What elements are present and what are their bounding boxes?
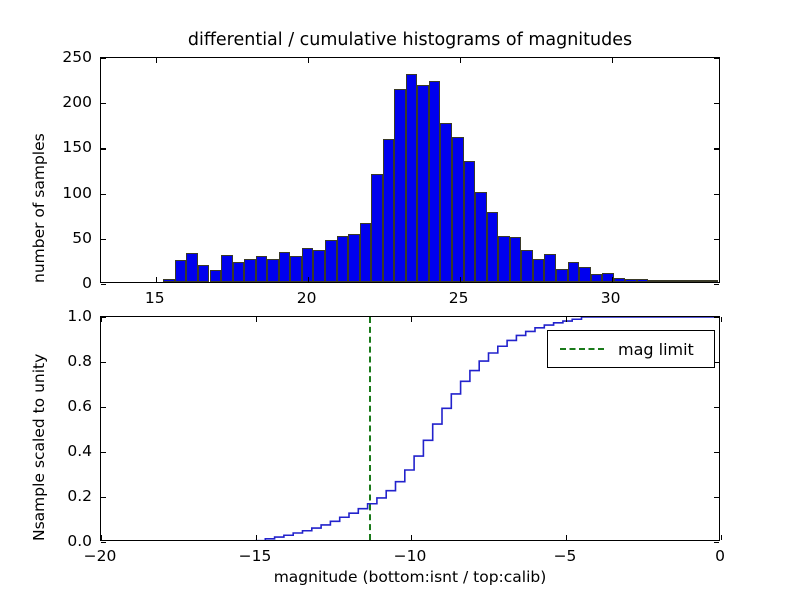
histogram-bar [198, 265, 210, 282]
histogram-bar [256, 256, 268, 282]
histogram-bar [568, 262, 580, 282]
xtick-mark [308, 277, 309, 282]
xtick-label: 0 [715, 547, 725, 565]
histogram-bar [579, 267, 591, 282]
histogram-bar [348, 234, 360, 282]
bottom-axis-ylabel: Nsample scaled to unity [30, 354, 48, 541]
histogram-bar [221, 255, 233, 282]
mag-limit-line [369, 317, 371, 540]
histogram-bar [591, 274, 603, 282]
histogram-bar [498, 236, 510, 282]
ytick-label: 200 [34, 93, 92, 111]
ytick-mark [101, 239, 106, 240]
ytick-mark [101, 284, 106, 285]
xtick-label: −10 [394, 547, 427, 565]
xtick-mark [101, 535, 102, 540]
ytick-mark [101, 194, 106, 195]
xtick-mark [411, 535, 412, 540]
ytick-mark [101, 407, 106, 408]
xtick-mark [721, 317, 722, 322]
histogram-bar [337, 236, 349, 282]
histogram-bar [510, 237, 522, 282]
histogram-bar [383, 139, 395, 282]
ytick-mark [714, 317, 719, 318]
ytick-mark [101, 452, 106, 453]
xtick-mark [460, 58, 461, 63]
xtick-mark [612, 277, 613, 282]
chart-title: differential / cumulative histograms of … [100, 30, 720, 50]
histogram-bar [671, 280, 683, 282]
histogram-bar [267, 259, 279, 282]
xtick-mark [460, 277, 461, 282]
xtick-mark [156, 58, 157, 63]
bottom-axis-xlabel: magnitude (bottom:isnt / top:calib) [100, 568, 720, 586]
histogram-bar [660, 280, 672, 282]
ytick-mark [101, 103, 106, 104]
ytick-mark [714, 407, 719, 408]
figure-canvas: differential / cumulative histograms of … [0, 0, 800, 600]
histogram-bar [487, 212, 499, 283]
ytick-mark [101, 317, 106, 318]
xtick-mark [256, 317, 257, 322]
histogram-bar [186, 253, 198, 282]
top-axis-ylabel: number of samples [30, 133, 48, 283]
ytick-label: 250 [34, 48, 92, 66]
histogram-bar [360, 223, 372, 282]
ytick-mark [714, 148, 719, 149]
histogram-bar [521, 250, 533, 282]
xtick-mark [156, 277, 157, 282]
histogram-bar [290, 256, 302, 282]
histogram-bar [695, 280, 707, 282]
ytick-mark [714, 239, 719, 240]
xtick-label: 20 [297, 289, 317, 307]
histogram-bar [371, 174, 383, 282]
histogram-bar [625, 279, 637, 282]
histogram-bar [706, 280, 718, 282]
histogram-bar [614, 278, 626, 282]
ytick-mark [101, 542, 106, 543]
histogram-plot-area [101, 58, 719, 282]
histogram-bar [556, 269, 568, 282]
histogram-bar [279, 252, 291, 282]
xtick-mark [566, 317, 567, 322]
histogram-bar [648, 280, 660, 282]
histogram-bar [533, 259, 545, 283]
histogram-bar [244, 259, 256, 283]
ytick-mark [101, 58, 106, 59]
histogram-bar [406, 74, 418, 282]
histogram-bar [429, 81, 441, 282]
xtick-label: −15 [239, 547, 272, 565]
histogram-bar [394, 89, 406, 282]
differential-histogram-axes [100, 57, 720, 283]
xtick-mark [721, 535, 722, 540]
ytick-mark [714, 497, 719, 498]
histogram-bar [210, 270, 222, 282]
ytick-mark [714, 452, 719, 453]
ytick-mark [714, 284, 719, 285]
legend[interactable]: mag limit [547, 330, 715, 368]
histogram-bar [417, 85, 429, 282]
histogram-bar [544, 254, 556, 282]
histogram-bar [440, 123, 452, 282]
histogram-bar [683, 280, 695, 282]
xtick-label: 30 [601, 289, 621, 307]
xtick-mark [612, 58, 613, 63]
xtick-label: −5 [554, 547, 577, 565]
histogram-bar [313, 250, 325, 282]
histogram-bar [464, 161, 476, 282]
xtick-label: 25 [449, 289, 469, 307]
histogram-bar [163, 279, 175, 282]
ytick-mark [714, 103, 719, 104]
histogram-bar [452, 137, 464, 282]
ytick-mark [714, 194, 719, 195]
ytick-mark [714, 542, 719, 543]
xtick-mark [566, 535, 567, 540]
xtick-mark [308, 58, 309, 63]
histogram-bar [475, 192, 487, 282]
histogram-bar [637, 279, 649, 282]
ytick-mark [101, 148, 106, 149]
xtick-mark [256, 535, 257, 540]
xtick-mark [411, 317, 412, 322]
legend-label-mag-limit: mag limit [618, 340, 694, 359]
xtick-label: 15 [145, 289, 165, 307]
mag-limit-line-icon [560, 348, 604, 350]
histogram-bar [325, 240, 337, 282]
ytick-mark [101, 362, 106, 363]
histogram-bar [233, 262, 245, 282]
ytick-mark [714, 58, 719, 59]
histogram-bar [175, 260, 187, 282]
ytick-mark [101, 497, 106, 498]
ytick-label: 1.0 [34, 307, 92, 325]
